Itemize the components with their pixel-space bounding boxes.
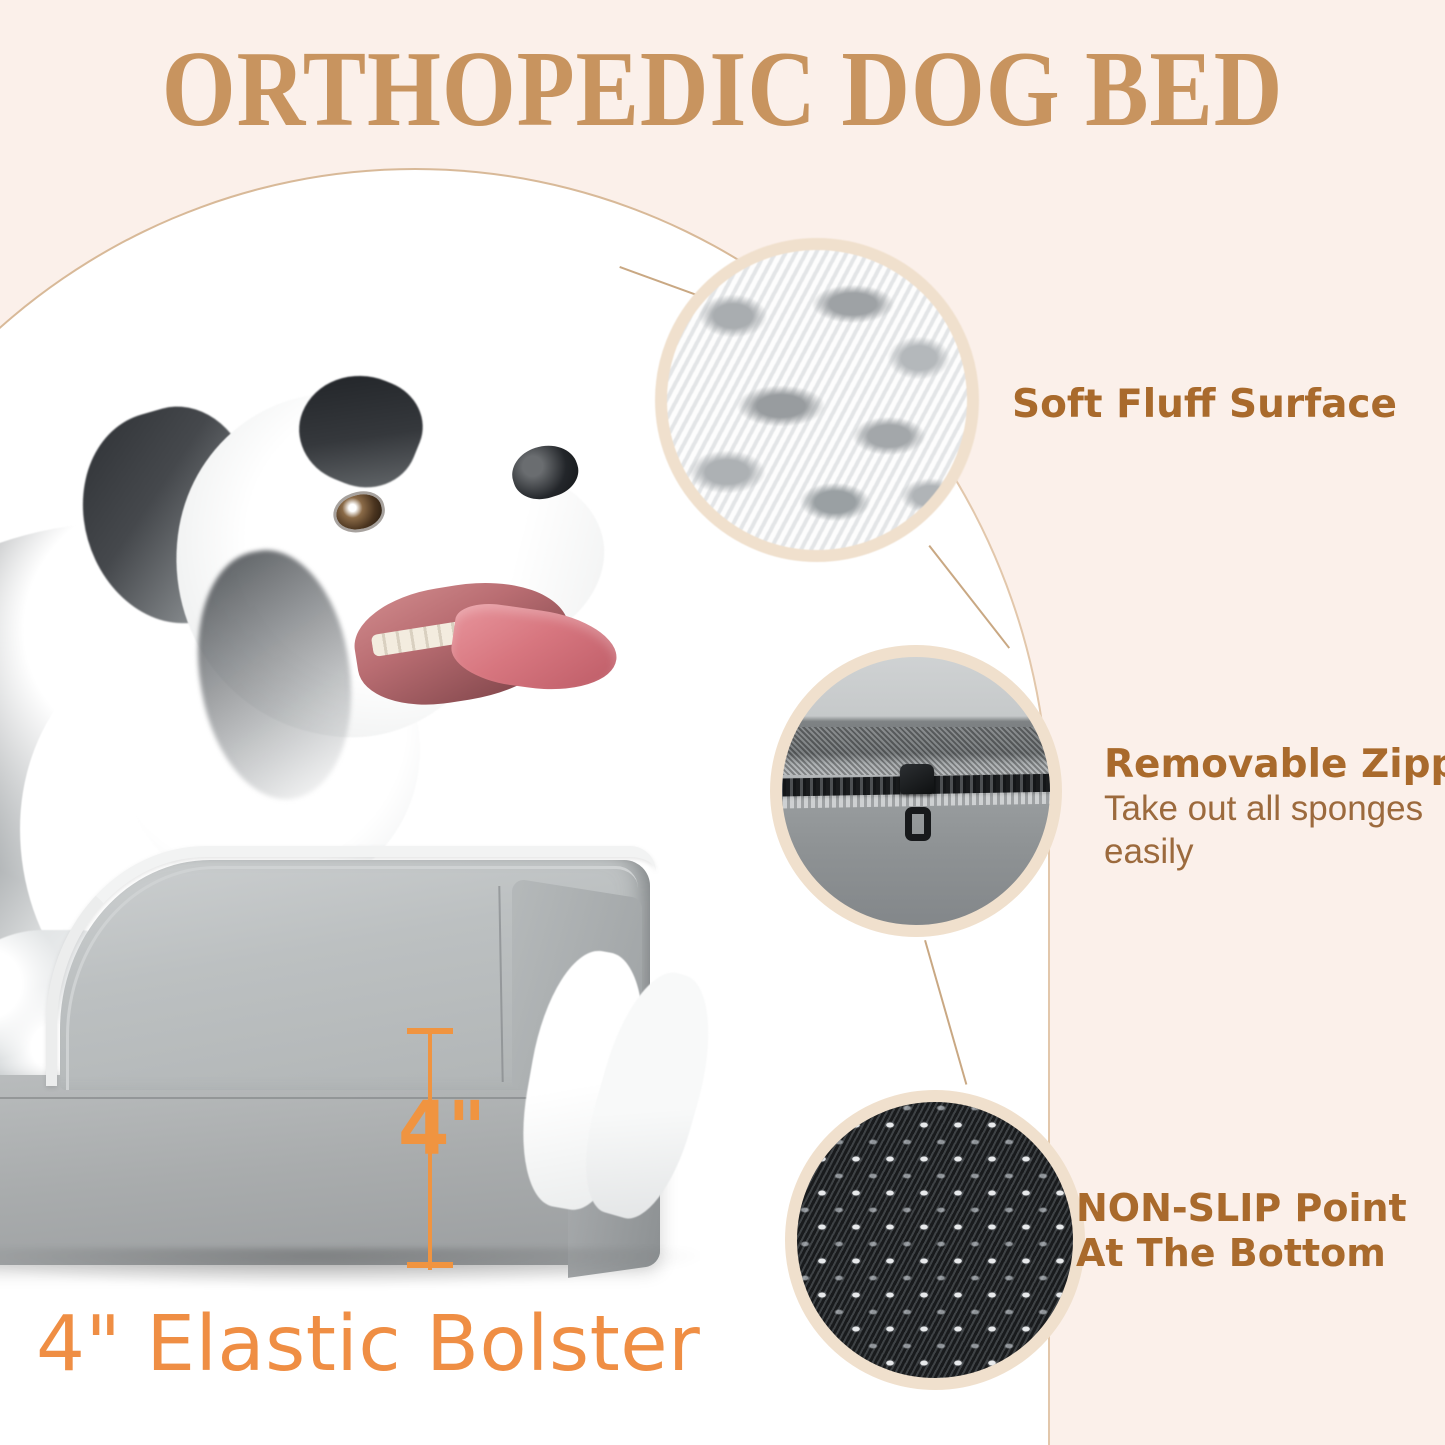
feature-subtitle: Take out all sponges easily bbox=[1104, 788, 1434, 873]
bed-ground-shadow bbox=[0, 1248, 700, 1288]
feature-title: Removable Zipper bbox=[1104, 742, 1445, 788]
fluff-texture-swatch bbox=[655, 238, 979, 562]
bolster-caption: 4" Elastic Bolster bbox=[36, 1306, 700, 1383]
feature-title-line-2: At The Bottom bbox=[1076, 1231, 1407, 1276]
dimension-label: 4" bbox=[398, 1092, 484, 1166]
zipper-pull-tab bbox=[905, 807, 931, 841]
zipper-slider bbox=[900, 764, 934, 794]
feature-label-non-slip: NON-SLIP Point At The Bottom bbox=[1076, 1186, 1407, 1276]
product-infographic: ORTHOPEDIC DOG BED bbox=[0, 0, 1445, 1445]
page-title: ORTHOPEDIC DOG BED bbox=[87, 36, 1359, 144]
non-slip-dots-row-b bbox=[797, 1102, 1073, 1378]
zipper-closeup-swatch bbox=[770, 645, 1062, 937]
bed-base-seam bbox=[0, 1097, 600, 1099]
dimension-cap-bottom bbox=[407, 1262, 453, 1268]
feature-title-line-1: NON-SLIP Point bbox=[1076, 1186, 1407, 1231]
feature-label-soft-fluff: Soft Fluff Surface bbox=[1012, 382, 1397, 428]
non-slip-dot-fabric-swatch bbox=[785, 1090, 1085, 1390]
feature-title: Soft Fluff Surface bbox=[1012, 382, 1397, 428]
feature-label-removable-zipper: Removable Zipper Take out all sponges ea… bbox=[1104, 742, 1445, 873]
